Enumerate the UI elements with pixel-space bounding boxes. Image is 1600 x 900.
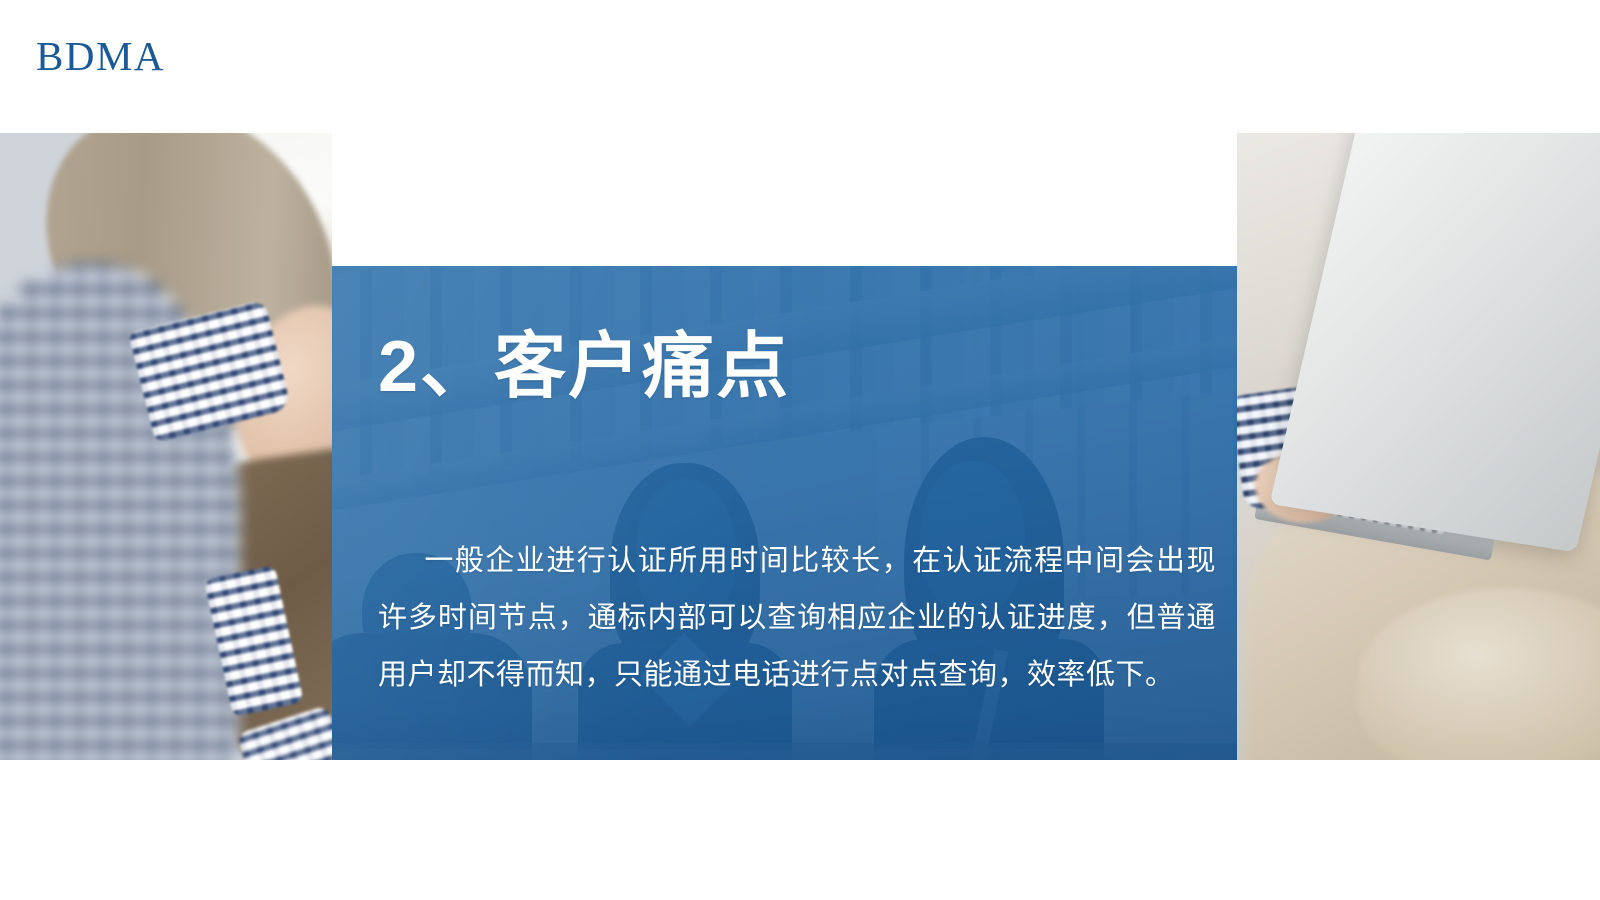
panel-content: 2、客户痛点 一般企业进行认证所用时间比较长，在认证流程中间会出现许多时间节点，…: [378, 266, 1218, 760]
slide-body-text: 一般企业进行认证所用时间比较长，在认证流程中间会出现许多时间节点，通标内部可以查…: [378, 533, 1216, 704]
left-photo-image: [0, 133, 332, 760]
slide-root: BDMA: [0, 0, 1600, 900]
brand-logo: BDMA: [36, 36, 165, 77]
photo-band: 2、客户痛点 一般企业进行认证所用时间比较长，在认证流程中间会出现许多时间节点，…: [0, 133, 1600, 760]
slide-title: 2、客户痛点: [378, 328, 790, 407]
right-photo-image: [1237, 133, 1600, 760]
content-panel: 2、客户痛点 一般企业进行认证所用时间比较长，在认证流程中间会出现许多时间节点，…: [332, 266, 1237, 760]
